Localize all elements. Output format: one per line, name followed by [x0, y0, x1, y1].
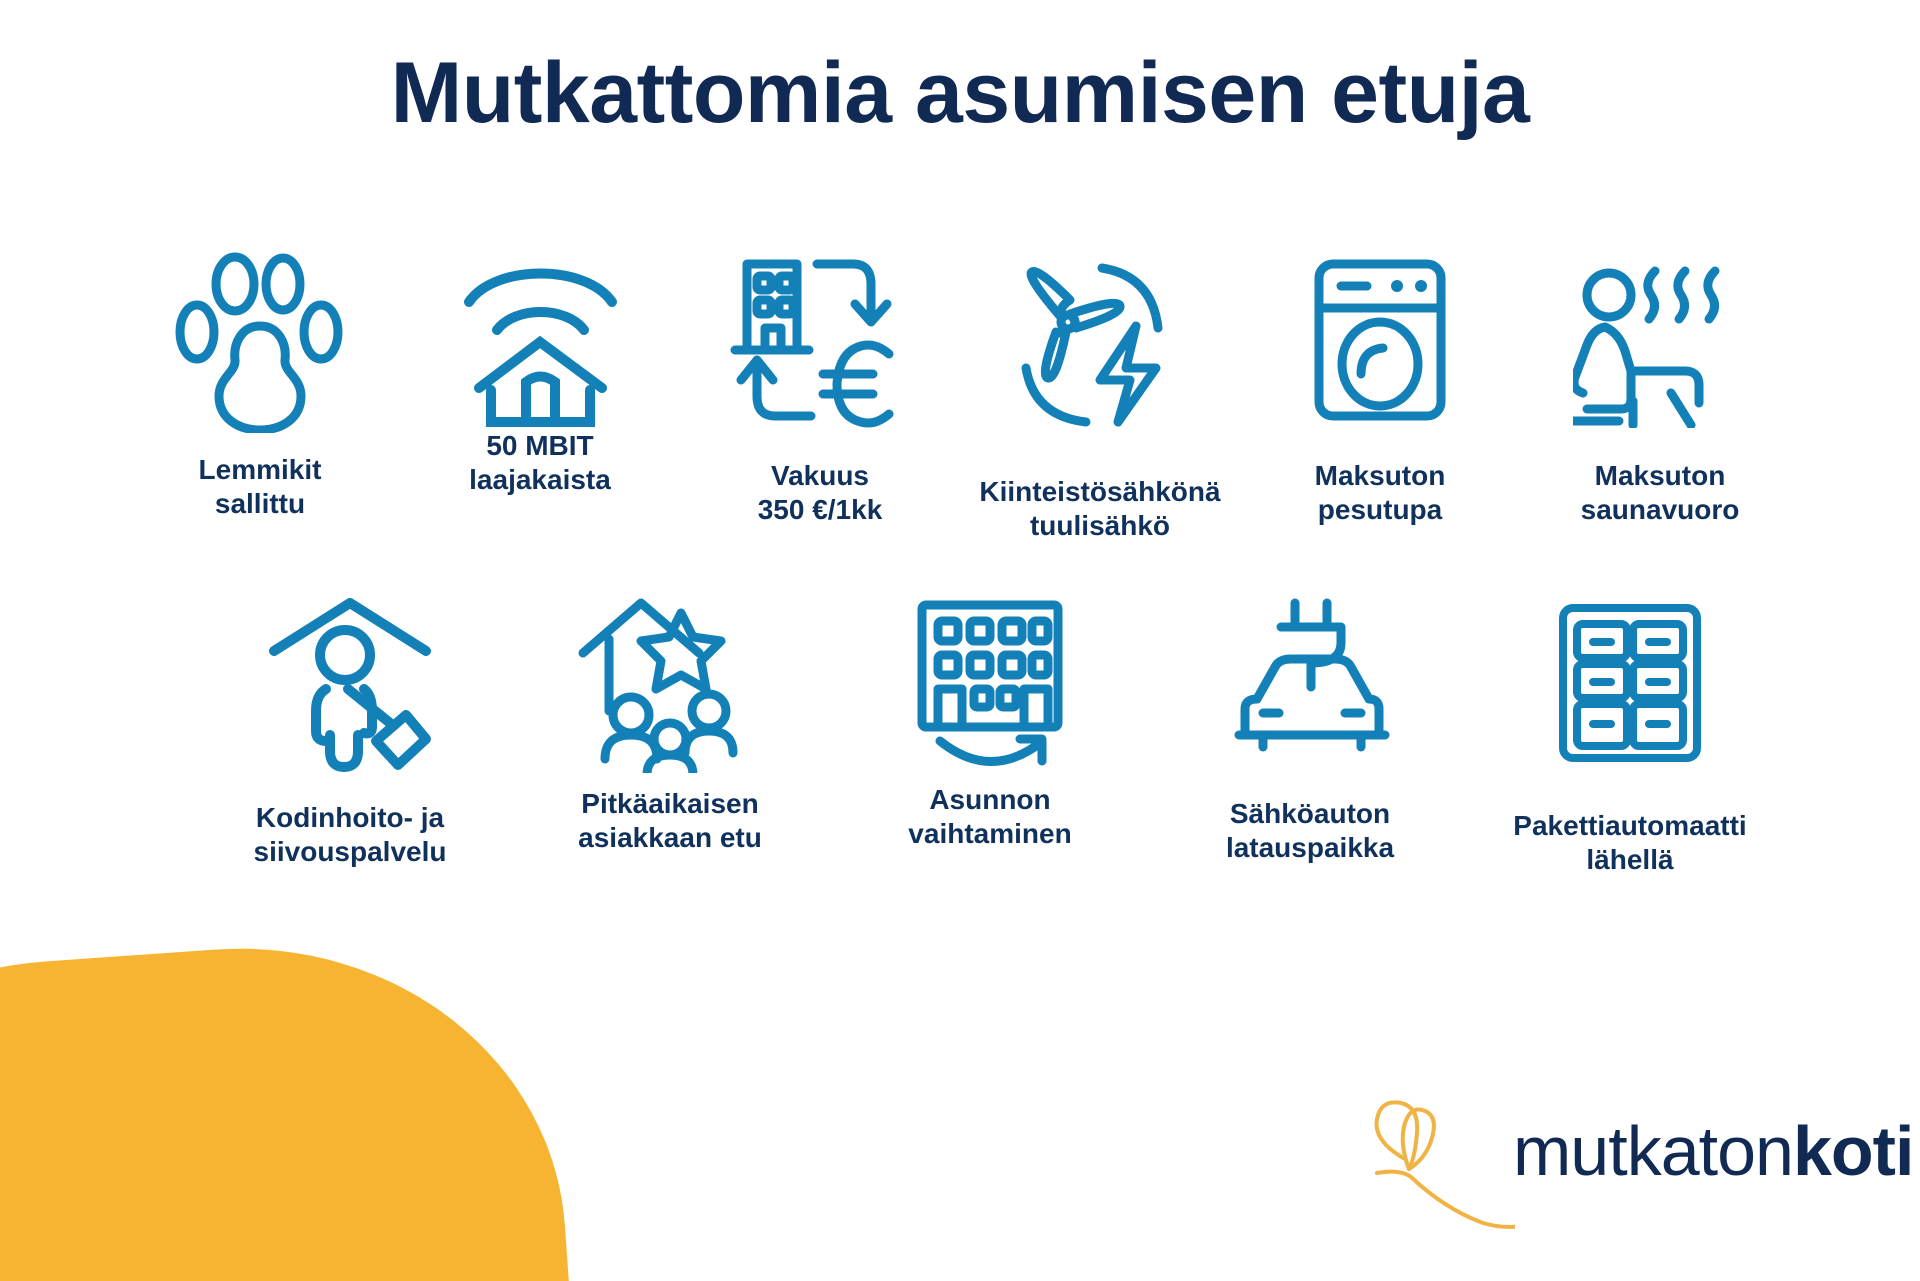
building-euro-exchange-icon — [725, 245, 915, 435]
benefit-item-ev-charging: Sähköauton latauspaikka — [1150, 590, 1470, 864]
benefits-row-two: Kodinhoito- ja siivouspalvelu — [120, 590, 1860, 876]
ev-charging-car-icon — [1223, 590, 1398, 775]
logo-wordmark: mutkatonkoti — [1513, 1111, 1913, 1191]
benefits-row-one: Lemmikit sallittu 50 MBIT laajakaista — [50, 245, 1870, 542]
house-star-people-icon — [575, 590, 765, 775]
decorative-yellow-blob — [0, 927, 574, 1281]
sauna-person-steam-icon — [1573, 245, 1748, 435]
parcel-locker-icon — [1555, 590, 1705, 775]
benefit-item-sauna: Maksuton saunavuoro — [1520, 245, 1800, 526]
benefit-item-loyalty: Pitkäaikaisen asiakkaan etu — [510, 590, 830, 854]
heart-swoosh-mark-icon — [1355, 1085, 1515, 1245]
benefit-label: Pitkäaikaisen asiakkaan etu — [578, 787, 762, 854]
benefit-item-broadband: 50 MBIT laajakaista — [400, 245, 680, 496]
person-broom-roof-icon — [260, 590, 440, 775]
wifi-house-icon — [453, 245, 628, 435]
logo-word-thin: mutkaton — [1513, 1112, 1793, 1190]
benefit-item-parcel-locker: Pakettiautomaatti lähellä — [1470, 590, 1790, 876]
benefit-label: Maksuton saunavuoro — [1581, 459, 1740, 526]
benefit-label: 50 MBIT laajakaista — [469, 429, 611, 496]
washing-machine-icon — [1305, 245, 1455, 435]
wind-turbine-lightning-icon — [1008, 245, 1193, 435]
benefit-label: Sähköauton latauspaikka — [1226, 797, 1394, 864]
benefit-label: Pakettiautomaatti lähellä — [1513, 809, 1746, 876]
benefit-item-wind-power: Kiinteistösähkönä tuulisähkö — [960, 245, 1240, 542]
apartment-swap-arrow-icon — [908, 590, 1073, 775]
benefit-label: Kiinteistösähkönä tuulisähkö — [979, 475, 1220, 542]
benefit-item-apartment-swap: Asunnon vaihtaminen — [830, 590, 1150, 850]
page-title: Mutkattomia asumisen etuja — [0, 48, 1920, 138]
benefit-label: Asunnon vaihtaminen — [908, 783, 1071, 850]
brand-logo: mutkatonkoti — [1355, 1085, 1855, 1250]
benefit-item-deposit: Vakuus 350 €/1kk — [680, 245, 960, 526]
infographic-poster: Mutkattomia asumisen etuja Lemmikit sall… — [0, 0, 1920, 1281]
paw-print-icon — [175, 245, 345, 435]
benefit-label: Maksuton pesutupa — [1315, 459, 1446, 526]
benefit-label: Lemmikit sallittu — [199, 453, 322, 520]
benefit-label: Kodinhoito- ja siivouspalvelu — [254, 801, 447, 868]
benefit-label: Vakuus 350 €/1kk — [758, 459, 883, 526]
benefit-item-laundry: Maksuton pesutupa — [1240, 245, 1520, 526]
logo-word-bold: koti — [1793, 1112, 1913, 1190]
benefit-item-pets: Lemmikit sallittu — [120, 245, 400, 520]
benefit-item-cleaning: Kodinhoito- ja siivouspalvelu — [190, 590, 510, 868]
